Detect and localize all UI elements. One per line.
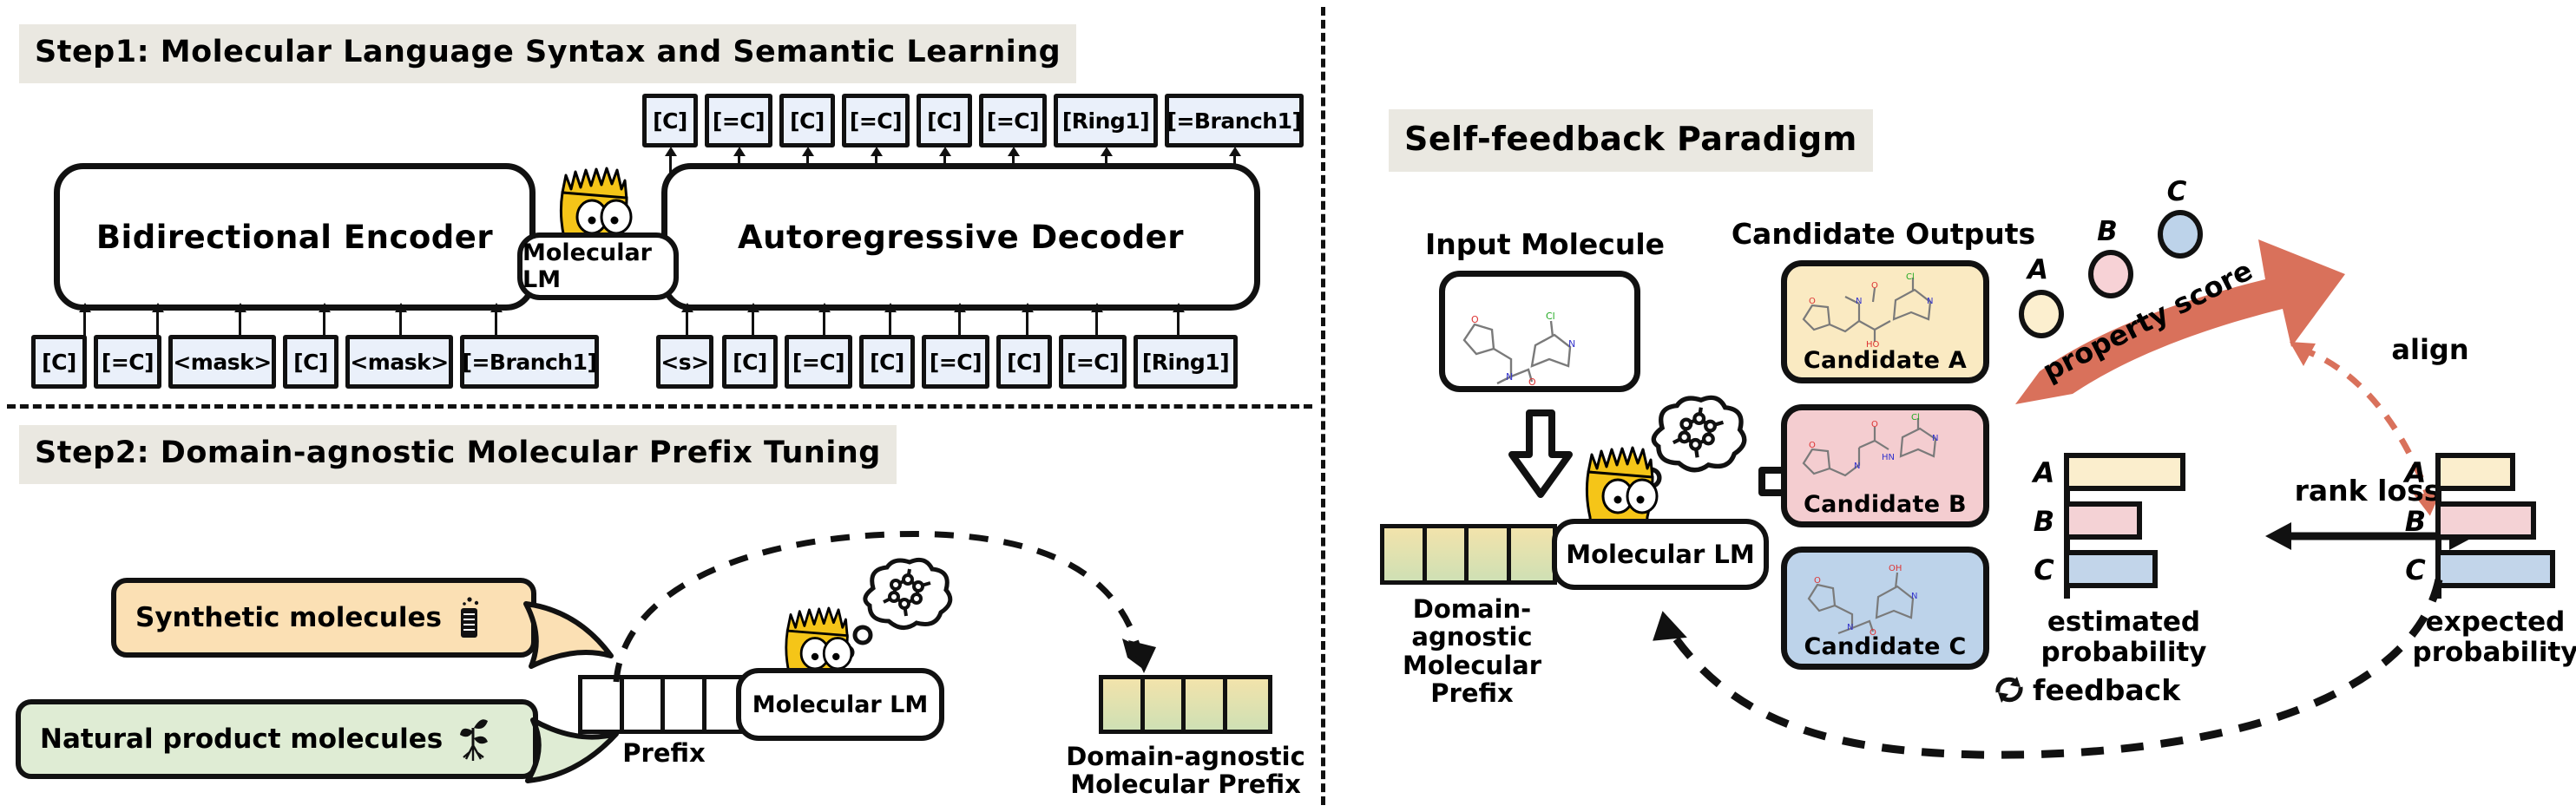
expected-row-label-b: B xyxy=(2401,507,2430,538)
token-out-6: [Ring1] xyxy=(1054,94,1158,147)
token-out-5: [=C] xyxy=(979,94,1047,147)
token-enc-in-0: [C] xyxy=(31,335,87,389)
feedback-curve xyxy=(1606,571,2456,788)
token-dec-in-7: [Ring1] xyxy=(1134,335,1238,389)
prefix-label: Prefix xyxy=(590,739,738,767)
token-dec-in-5: [C] xyxy=(996,335,1052,389)
input-molecule-card: O N O Cl N xyxy=(1439,271,1640,392)
right-prefix-label: Domain-agnostic Molecular Prefix xyxy=(1359,595,1585,708)
expected-bar-b xyxy=(2435,501,2536,540)
svg-text:O: O xyxy=(1871,420,1878,429)
left-panel: Step1: Molecular Language Syntax and Sem… xyxy=(0,0,1319,812)
token-out-4: [C] xyxy=(917,94,972,147)
token-out-1: [=C] xyxy=(705,94,772,147)
svg-text:O: O xyxy=(1809,297,1816,306)
feedback-label: feedback xyxy=(2033,675,2206,707)
right-prefix-cells xyxy=(1380,524,1557,585)
synthetic-molecules-bubble: Synthetic molecules xyxy=(111,578,536,658)
token-enc-in-1: [=C] xyxy=(94,335,161,389)
token-out-2: [C] xyxy=(779,94,835,147)
step2-title: Step2: Domain-agnostic Molecular Prefix … xyxy=(19,425,897,484)
token-enc-in-2: <mask> xyxy=(168,335,276,389)
bidirectional-encoder: Bidirectional Encoder xyxy=(54,163,536,311)
domain-agnostic-prefix-cells xyxy=(1099,675,1272,734)
token-dec-in-2: [=C] xyxy=(785,335,852,389)
plant-icon xyxy=(455,716,491,763)
align-label: align xyxy=(2378,335,2482,366)
svg-text:N: N xyxy=(1568,338,1575,350)
candidate-b-card: O N O HN Cl N Candidate B xyxy=(1781,404,1989,527)
svg-text:O: O xyxy=(1871,281,1878,291)
right-panel: Self-feedback Paradigm Input Molecule O … xyxy=(1328,0,2576,812)
beaker-icon xyxy=(454,596,483,639)
self-feedback-title: Self-feedback Paradigm xyxy=(1389,109,1873,172)
molecular-lm-box-step1: Molecular LM xyxy=(517,232,679,300)
token-out-3: [=C] xyxy=(842,94,910,147)
svg-text:N: N xyxy=(1856,297,1862,306)
input-molecule-label: Input Molecule xyxy=(1415,229,1675,261)
token-enc-in-5: [=Branch1] xyxy=(460,335,599,389)
token-enc-in-4: <mask> xyxy=(345,335,453,389)
natural-product-molecules-label: Natural product molecules xyxy=(40,724,443,755)
estimated-bar-b xyxy=(2064,501,2142,540)
svg-text:O: O xyxy=(1809,441,1816,450)
token-out-7: [=Branch1] xyxy=(1165,94,1304,147)
expected-bar-a xyxy=(2435,453,2515,491)
molecular-lm-box-step2: Molecular LM xyxy=(736,668,944,741)
estimated-row-label-b: B xyxy=(2029,507,2059,538)
svg-text:N: N xyxy=(1506,371,1513,383)
natural-product-molecules-bubble: Natural product molecules xyxy=(16,699,538,779)
svg-text:Cl: Cl xyxy=(1906,272,1915,282)
token-dec-in-1: [C] xyxy=(722,335,778,389)
svg-text:N: N xyxy=(1854,462,1860,471)
candidate-a-label: Candidate A xyxy=(1804,347,1967,377)
synthetic-molecules-label: Synthetic molecules xyxy=(135,602,442,633)
token-dec-in-3: [C] xyxy=(859,335,915,389)
property-score-group: A B C property score align xyxy=(2005,165,2560,408)
estimated-bar-a xyxy=(2064,453,2185,491)
token-dec-in-6: [=C] xyxy=(1059,335,1127,389)
domain-agnostic-prefix-label: Domain-agnostic Molecular Prefix xyxy=(1066,743,1305,799)
panel-divider xyxy=(1321,7,1325,805)
down-arrow-icon xyxy=(1503,408,1578,503)
token-dec-in-0: <s> xyxy=(656,335,713,389)
molecular-lm-box-right: Molecular LM xyxy=(1552,519,1769,590)
estimated-row-label-a: A xyxy=(2029,458,2059,489)
svg-text:N: N xyxy=(1927,297,1933,306)
expected-row-label-a: A xyxy=(2401,458,2430,489)
step-divider xyxy=(7,404,1312,409)
token-enc-in-3: [C] xyxy=(283,335,338,389)
svg-text:N: N xyxy=(1932,434,1938,443)
token-dec-in-4: [=C] xyxy=(922,335,989,389)
candidate-a-card: O N O HO Cl N Candidate A xyxy=(1781,260,1989,383)
candidate-b-label: Candidate B xyxy=(1804,491,1967,521)
svg-text:HN: HN xyxy=(1882,453,1895,462)
step1-title: Step1: Molecular Language Syntax and Sem… xyxy=(19,24,1076,83)
autoregressive-decoder: Autoregressive Decoder xyxy=(661,163,1260,311)
svg-text:Cl: Cl xyxy=(1911,413,1920,422)
svg-text:Cl: Cl xyxy=(1546,311,1555,322)
token-out-0: [C] xyxy=(642,94,698,147)
feedback-icon-wrap xyxy=(1991,671,2027,708)
svg-text:O: O xyxy=(1471,314,1479,325)
svg-text:O: O xyxy=(1528,377,1536,388)
